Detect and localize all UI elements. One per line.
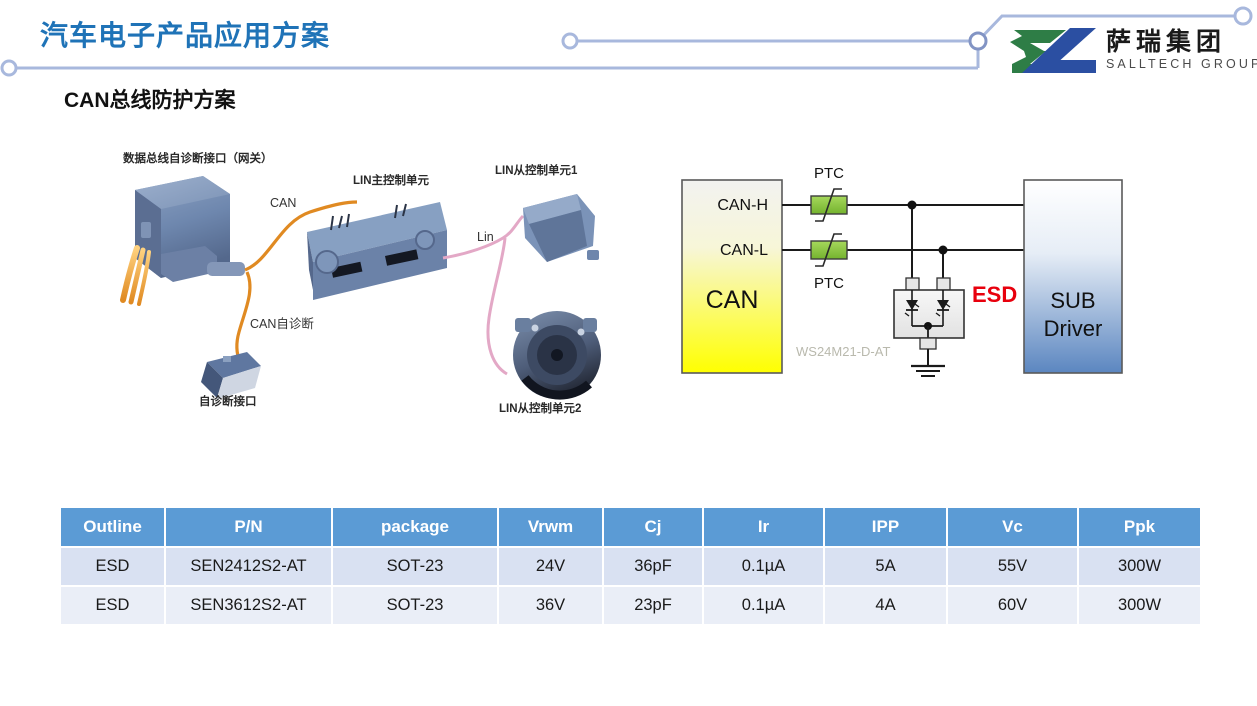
illu-label-gateway: 数据总线自诊断接口（网关） [123, 150, 273, 166]
page-title: 汽车电子产品应用方案 [40, 14, 330, 54]
ptc-top-component [811, 189, 847, 221]
brand-name-en: SALLTECH GROUP [1106, 58, 1257, 71]
gateway-ecu-image [123, 176, 245, 304]
sub-driver-label-line2: Driver [1044, 316, 1103, 341]
illu-label-lin: Lin [477, 230, 494, 244]
can-h-label: CAN-H [717, 197, 768, 214]
cell-ppk: 300W [1078, 547, 1200, 586]
cell-pn: SEN3612S2-AT [165, 586, 332, 624]
ptc-bottom-label: PTC [814, 275, 844, 292]
brand-name-cn: 萨瑞集团 [1106, 30, 1257, 55]
esd-label: ESD [972, 282, 1017, 307]
brand-text: 萨瑞集团 SALLTECH GROUP [1106, 30, 1257, 71]
lin-master-ecu-image [307, 202, 447, 300]
col-package: package [332, 508, 498, 547]
col-cj: Cj [603, 508, 703, 547]
deco-node-mid [563, 34, 577, 48]
col-ir: Ir [703, 508, 824, 547]
col-vrwm: Vrwm [498, 508, 603, 547]
salltech-logo-icon [1010, 24, 1096, 76]
cell-vrwm: 24V [498, 547, 603, 586]
can-block-label: CAN [706, 286, 759, 314]
table-row: ESD SEN3612S2-AT SOT-23 36V 23pF 0.1µA 4… [61, 586, 1200, 624]
illu-label-lin-slave-2: LIN从控制单元2 [499, 400, 581, 416]
cell-outline: ESD [61, 586, 165, 624]
can-protection-circuit-diagram: WS24M21-D-AT CAN-H CAN-L CAN PTC PTC [668, 160, 1138, 410]
col-outline: Outline [61, 508, 165, 547]
lin-wire-2 [488, 238, 507, 374]
sub-driver-label-line1: SUB [1050, 288, 1095, 313]
illu-label-diag-port: 自诊断接口 [199, 393, 257, 409]
section-title: CAN总线防护方案 [64, 84, 236, 114]
brand-logo: 萨瑞集团 SALLTECH GROUP [1010, 22, 1250, 78]
illu-label-can-diag: CAN自诊断 [250, 313, 314, 332]
cell-package: SOT-23 [332, 586, 498, 624]
can-diag-wire [237, 272, 250, 362]
cell-package: SOT-23 [332, 547, 498, 586]
topology-graphic [95, 150, 655, 435]
col-ipp: IPP [824, 508, 947, 547]
esd-parts-table: Outline P/N package Vrwm Cj Ir IPP Vc Pp… [61, 508, 1200, 624]
cell-vc: 55V [947, 547, 1078, 586]
lin-slave-2-image [513, 311, 601, 399]
col-pn: P/N [165, 508, 332, 547]
cell-ir: 0.1µA [703, 586, 824, 624]
cell-ipp: 5A [824, 547, 947, 586]
cell-pn: SEN2412S2-AT [165, 547, 332, 586]
illu-label-can: CAN [270, 196, 296, 210]
junction-dot-canh [908, 201, 917, 210]
can-lin-topology-illustration: 数据总线自诊断接口（网关） LIN主控制单元 LIN从控制单元1 CAN Lin… [95, 150, 655, 435]
cell-ppk: 300W [1078, 586, 1200, 624]
table-header-row: Outline P/N package Vrwm Cj Ir IPP Vc Pp… [61, 508, 1200, 547]
junction-dot-canl [939, 246, 948, 255]
cell-cj: 23pF [603, 586, 703, 624]
col-vc: Vc [947, 508, 1078, 547]
cell-vc: 60V [947, 586, 1078, 624]
cell-cj: 36pF [603, 547, 703, 586]
sub-driver-block [1024, 180, 1122, 373]
lin-slave-1-image [523, 194, 599, 262]
cell-vrwm: 36V [498, 586, 603, 624]
watermark-part-number: WS24M21-D-AT [796, 344, 890, 359]
deco-node-left [2, 61, 16, 75]
ptc-top-label: PTC [814, 165, 844, 182]
illu-label-lin-master: LIN主控制单元 [353, 172, 429, 188]
ptc-bottom-component [811, 234, 847, 266]
col-ppk: Ppk [1078, 508, 1200, 547]
cell-ir: 0.1µA [703, 547, 824, 586]
deco-node-junction [970, 33, 986, 49]
circuit-graphic: WS24M21-D-AT CAN-H CAN-L CAN PTC PTC [668, 160, 1138, 410]
diagnostic-connector-image [201, 352, 261, 399]
illu-label-lin-slave-1: LIN从控制单元1 [495, 162, 577, 178]
cell-ipp: 4A [824, 586, 947, 624]
cell-outline: ESD [61, 547, 165, 586]
table-row: ESD SEN2412S2-AT SOT-23 24V 36pF 0.1µA 5… [61, 547, 1200, 586]
esd-device-package [894, 278, 964, 376]
can-l-label: CAN-L [720, 242, 768, 259]
